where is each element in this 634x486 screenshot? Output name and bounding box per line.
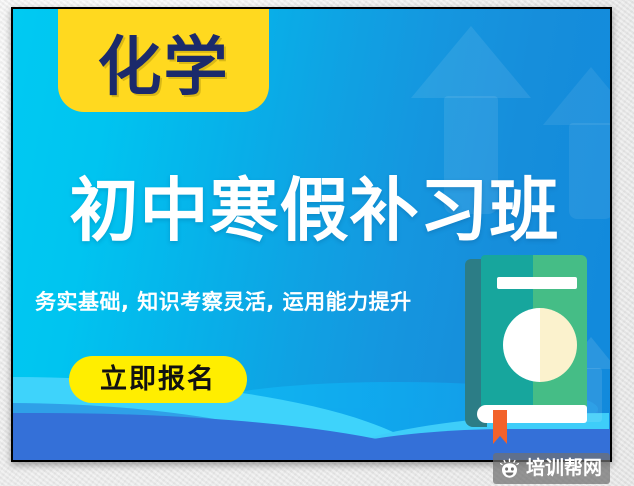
book-title-band bbox=[497, 277, 577, 289]
page-backdrop: 化学 初中寒假补习班 务实基础, 知识考察灵活, 运用能力提升 立即报名 bbox=[0, 0, 634, 486]
subject-tag-label: 化学 bbox=[98, 36, 230, 100]
enroll-now-label: 立即报名 bbox=[100, 366, 216, 393]
watermark-label: 培训帮网 bbox=[526, 459, 602, 478]
enroll-now-button[interactable]: 立即报名 bbox=[69, 356, 247, 403]
arrow-head bbox=[411, 26, 531, 98]
promo-banner: 化学 初中寒假补习班 务实基础, 知识考察灵活, 运用能力提升 立即报名 bbox=[11, 7, 612, 462]
arrow-head bbox=[543, 67, 612, 125]
subtitle: 务实基础, 知识考察灵活, 运用能力提升 bbox=[35, 286, 412, 316]
smiley-sun-icon bbox=[499, 458, 520, 479]
book-illustration bbox=[465, 255, 587, 427]
page-title: 初中寒假补习班 bbox=[27, 177, 602, 246]
subject-tag: 化学 bbox=[58, 7, 269, 112]
watermark: 培训帮网 bbox=[493, 453, 610, 484]
